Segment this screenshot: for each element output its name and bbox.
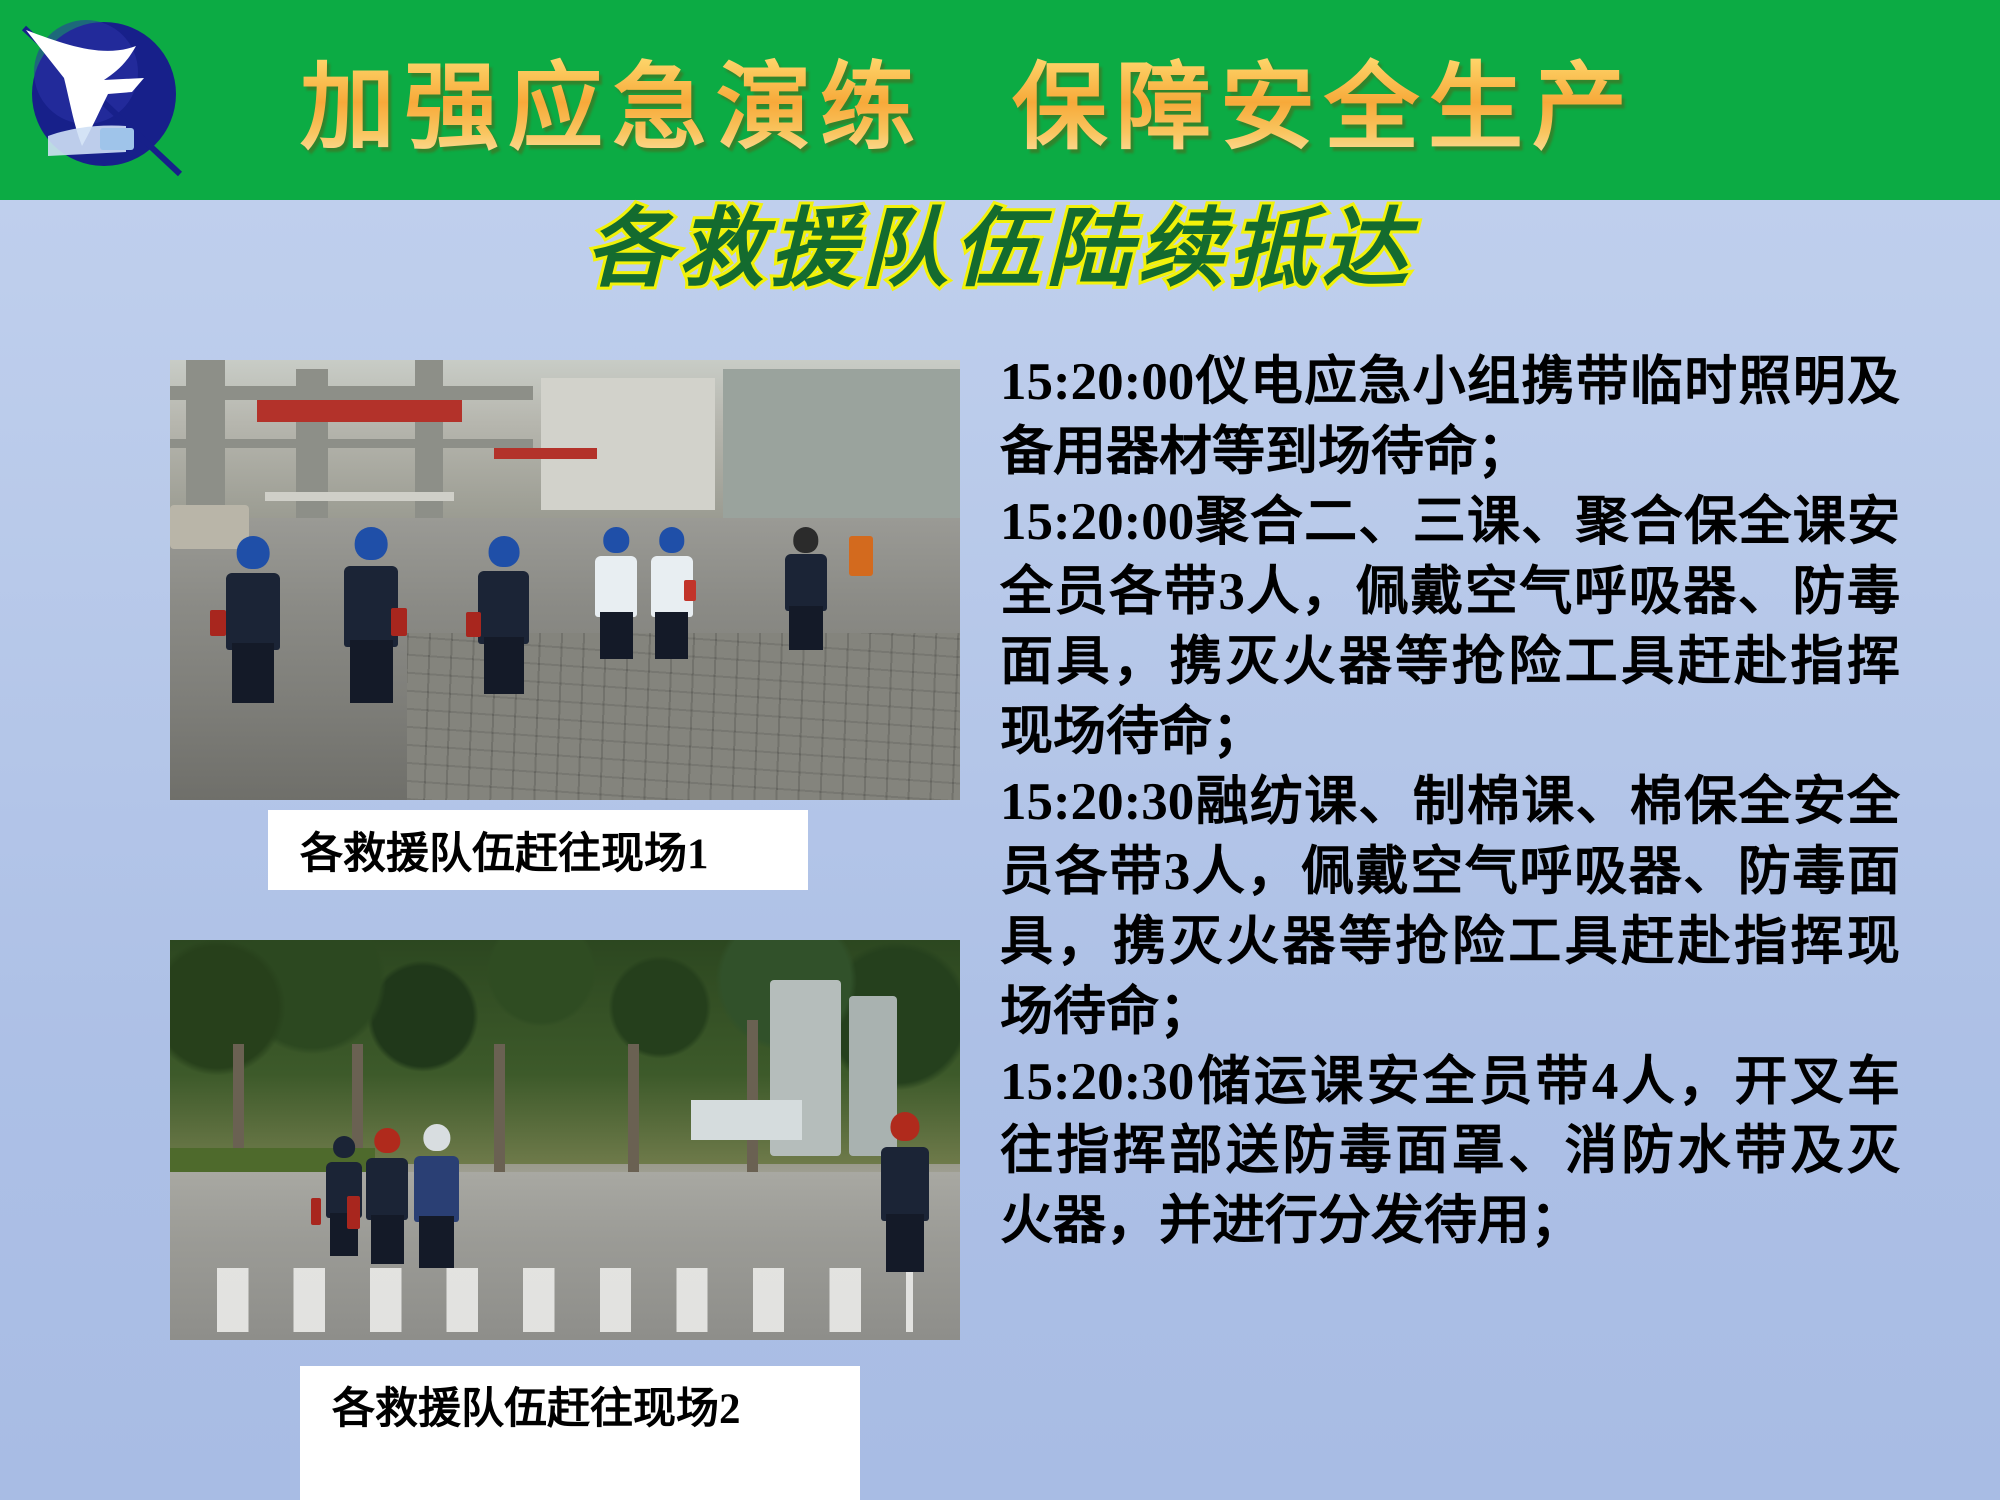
photo-caption-2: 各救援队伍赶往现场2 [300, 1366, 860, 1500]
photo-rescue-teams-2 [170, 940, 960, 1340]
timeline-paragraph-4: 15:20:30储运课安全员带4人，开叉车往指挥部送防毒面罩、消防水带及灭火器，… [1000, 1048, 1900, 1258]
photo1-far-plant [723, 369, 960, 519]
page-title: 各救援队伍陆续抵达 [0, 178, 2000, 303]
banner-title-left: 加强应急演练 [300, 31, 924, 168]
photo2-crosswalk [217, 1268, 912, 1332]
company-logo [8, 6, 208, 196]
photo1-railing [265, 492, 455, 501]
photo-caption-1-text: 各救援队伍赶往现场1 [300, 819, 709, 881]
photo1-red-sign [494, 448, 597, 459]
photo2-worker-4 [873, 1112, 936, 1272]
photo-caption-1: 各救援队伍赶往现场1 [268, 810, 808, 890]
photo-rescue-teams-1 [170, 360, 960, 800]
photo1-worker-3 [470, 536, 537, 694]
photo2-white-building [691, 1100, 802, 1140]
photo2-treeline [170, 940, 960, 1164]
timeline-paragraph-1: 15:20:00仪电应急小组携带临时照明及备用器材等到场待命； [1000, 348, 1900, 488]
photo1-worker-4 [589, 527, 644, 659]
timeline-paragraph-3: 15:20:30融纺课、制棉课、棉保全安全员各带3人，佩戴空气呼吸器、防毒面具，… [1000, 768, 1900, 1048]
photo1-worker-5 [644, 527, 699, 659]
photo1-worker-1 [217, 536, 288, 703]
photo1-worker-2 [336, 527, 407, 703]
presentation-slide: 加强应急演练 保障安全生产 各救援队伍陆续抵达 [0, 0, 2000, 1500]
photo1-beam-b [170, 439, 533, 448]
header-banner: 加强应急演练 保障安全生产 [0, 0, 2000, 200]
banner-title-right: 保障安全生产 [1012, 31, 1636, 168]
photo2-trunk-c [494, 1044, 505, 1180]
timeline-paragraph-2: 15:20:00聚合二、三课、聚合保全课安全员各带3人，佩戴空气呼吸器、防毒面具… [1000, 488, 1900, 768]
timeline-body-text: 15:20:00仪电应急小组携带临时照明及备用器材等到场待命； 15:20:00… [1000, 348, 1900, 1257]
banner-title: 加强应急演练 保障安全生产 [300, 34, 1990, 164]
photo1-beam-a [170, 386, 533, 399]
photo2-trunk-d [628, 1044, 639, 1180]
photo1-wall-panel [541, 378, 715, 510]
photo1-worker-6 [778, 527, 833, 650]
airline-bird-globe-logo-icon [8, 6, 208, 196]
photo1-fire-extinguisher [849, 536, 873, 576]
photo-caption-2-text: 各救援队伍赶往现场2 [332, 1374, 741, 1436]
photo2-worker-3 [407, 1124, 466, 1268]
photo1-red-banner [257, 400, 462, 422]
